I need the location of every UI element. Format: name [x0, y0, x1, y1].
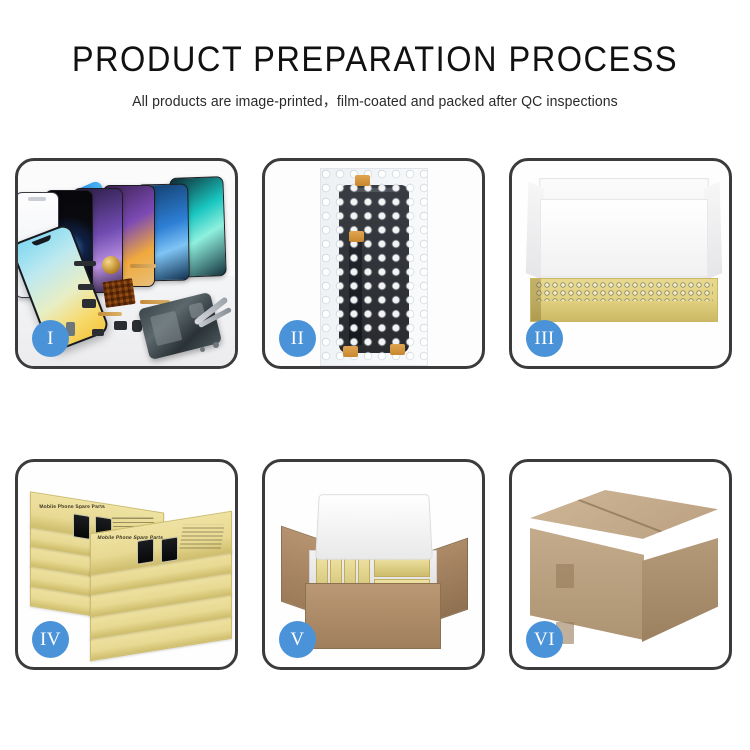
step-badge-6: VI: [526, 621, 563, 658]
foam-lid: [315, 494, 433, 559]
box-art-thumb-3: [137, 538, 154, 565]
carton-tape-patch-1: [556, 564, 574, 588]
header: PRODUCT PREPARATION PROCESS All products…: [0, 0, 750, 111]
part-block-1: [82, 299, 96, 308]
step-badge-2: II: [279, 320, 316, 357]
box-spec-lines-2: [179, 524, 224, 548]
bubble-texture: [321, 169, 427, 365]
page-subtitle: All products are image-printed，film-coat…: [11, 79, 739, 111]
packed-box-5: [374, 557, 430, 577]
part-block-2: [114, 321, 127, 330]
battery-shape: [150, 311, 182, 346]
box-art-thumb-4: [161, 536, 178, 563]
phone-notch-icon: [28, 197, 46, 201]
vibration-motor-icon: [102, 256, 120, 274]
process-step-grid: I II I: [15, 158, 735, 670]
process-step-panel-6: VI: [509, 459, 732, 670]
flex-cable-1: [130, 264, 156, 268]
screw-icon-1: [213, 342, 219, 348]
process-step-panel-2: II: [262, 158, 485, 369]
step-badge-4: IV: [32, 621, 69, 658]
retail-box-label: Mobile Phone Spare Parts: [39, 504, 106, 510]
step-badge-5: V: [279, 621, 316, 658]
part-strip-2: [78, 284, 94, 290]
carton-front-face: [305, 583, 441, 649]
product-preparation-infographic: PRODUCT PREPARATION PROCESS All products…: [0, 0, 750, 750]
flex-cable-2: [98, 312, 122, 316]
part-strip-1: [74, 261, 96, 266]
screw-icon-2: [200, 347, 205, 352]
page-title: PRODUCT PREPARATION PROCESS: [26, 0, 724, 79]
chip-grid-icon: [102, 278, 135, 308]
step-badge-3: III: [526, 320, 563, 357]
sealed-carton: [530, 490, 718, 650]
tape-tab-4: [390, 344, 405, 355]
bubble-wrap-bag: [320, 168, 428, 366]
foam-liner: [540, 199, 708, 277]
process-step-panel-4: Mobile Phone Spare Parts Mobile Phone Sp…: [15, 459, 238, 670]
tape-tab-3: [343, 346, 358, 357]
carton-flap-seam: [571, 496, 698, 546]
part-block-3: [92, 329, 104, 336]
tape-tab-2: [349, 231, 364, 242]
carton-right-face: [642, 538, 718, 642]
tape-tab-1: [355, 175, 370, 186]
process-step-panel-1: I: [15, 158, 238, 369]
process-step-panel-5: V: [262, 459, 485, 670]
yellow-box-base: [530, 278, 718, 322]
step-badge-1: I: [32, 320, 69, 357]
box-art-thumb-1: [73, 513, 90, 540]
process-step-panel-3: III: [509, 158, 732, 369]
